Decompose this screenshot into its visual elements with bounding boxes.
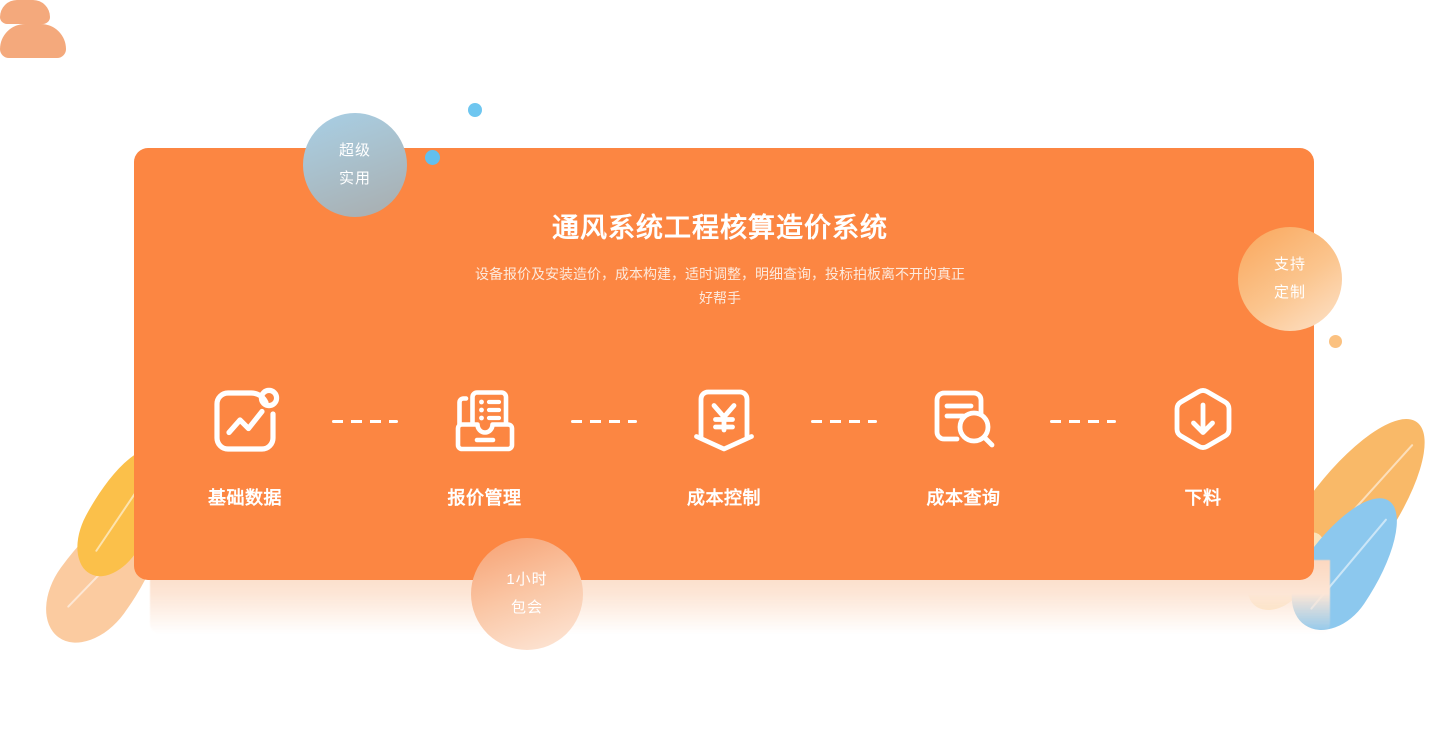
- connector-dashes-1: [330, 378, 400, 464]
- feature-item-quotation[interactable]: 报价管理: [410, 378, 560, 510]
- badge-one-hour-training: 1小时 包会: [471, 538, 583, 650]
- feature-item-cost-query[interactable]: 成本查询: [889, 378, 1039, 510]
- badge-super-practical: 超级 实用: [303, 113, 407, 217]
- feature-item-basic-data[interactable]: 基础数据: [170, 378, 320, 510]
- leaf-cloud-icon: [0, 24, 66, 58]
- hero-banner: 通风系统工程核算造价系统 设备报价及安装造价，成本构建，适时调整，明细查询，投标…: [0, 0, 1440, 730]
- connector-dashes-4: [1048, 378, 1118, 464]
- dot-blue-top-icon: [468, 103, 482, 117]
- inbox-document-icon: [442, 378, 528, 464]
- feature-label: 下料: [1185, 484, 1222, 510]
- feature-item-cost-control[interactable]: 成本控制: [649, 378, 799, 510]
- feature-label: 基础数据: [208, 484, 282, 510]
- badge-line-1: 支持: [1274, 251, 1306, 279]
- hexagon-download-icon: [1160, 378, 1246, 464]
- badge-line-1: 1小时: [506, 566, 547, 594]
- feature-item-material[interactable]: 下料: [1128, 378, 1278, 510]
- document-search-icon: [921, 378, 1007, 464]
- page-title: 通风系统工程核算造价系统: [0, 210, 1440, 246]
- feature-label: 报价管理: [448, 484, 522, 510]
- chart-square-icon: [202, 378, 288, 464]
- leaf-cloud-secondary-icon: [0, 0, 50, 24]
- connector-dashes-3: [809, 378, 879, 464]
- feature-label: 成本控制: [687, 484, 761, 510]
- connector-dashes-2: [569, 378, 639, 464]
- dot-orange-icon: [1329, 335, 1342, 348]
- feature-list: 基础数据 报价管理: [170, 378, 1278, 528]
- badge-line-1: 超级: [339, 137, 371, 165]
- feature-label: 成本查询: [927, 484, 1001, 510]
- badge-line-2: 定制: [1274, 279, 1306, 307]
- page-subtitle: 设备报价及安装造价，成本构建，适时调整，明细查询，投标拍板离不开的真正好帮手: [470, 262, 970, 310]
- dot-blue-card-icon: [425, 150, 440, 165]
- yuan-tag-icon: [681, 378, 767, 464]
- badge-line-2: 实用: [339, 165, 371, 193]
- badge-custom-support: 支持 定制: [1238, 227, 1342, 331]
- badge-line-2: 包会: [511, 594, 543, 622]
